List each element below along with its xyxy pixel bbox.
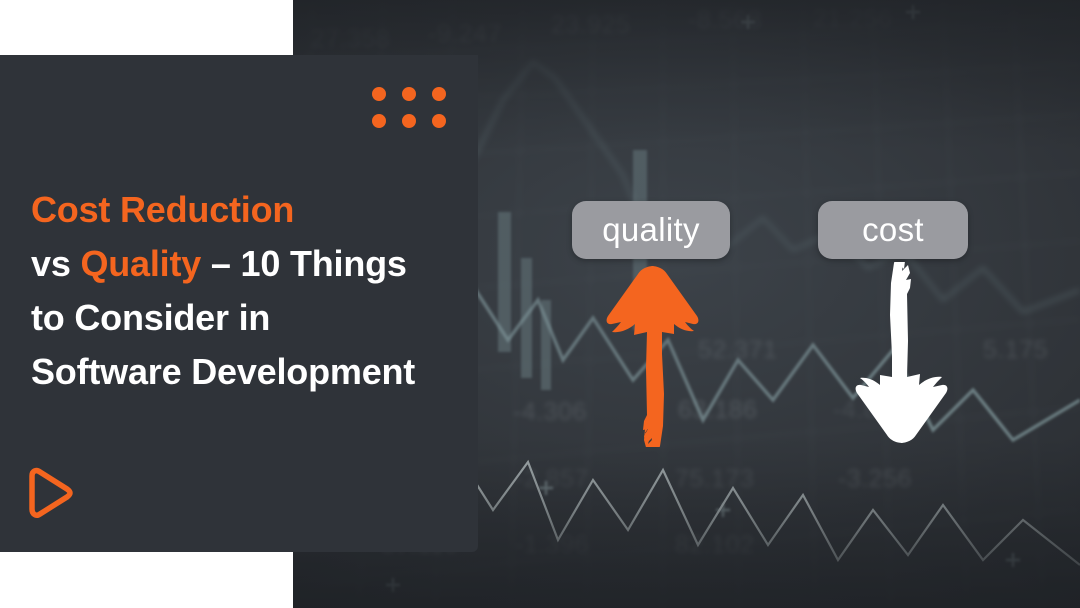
title-panel: Cost Reduction vs Quality – 10 Things to… bbox=[0, 55, 478, 552]
brush-arrow-down-icon bbox=[848, 262, 960, 447]
six-dot-grid-icon bbox=[372, 87, 446, 128]
label-chip-cost[interactable]: cost bbox=[818, 201, 968, 259]
title-line-3: to Consider in bbox=[31, 291, 461, 345]
dot-3 bbox=[432, 87, 446, 101]
title-accent-quality: Quality bbox=[80, 243, 201, 284]
label-chip-quality[interactable]: quality bbox=[572, 201, 730, 259]
dot-5 bbox=[402, 114, 416, 128]
dot-2 bbox=[402, 87, 416, 101]
dot-6 bbox=[432, 114, 446, 128]
title-line-2-post: – 10 Things bbox=[201, 243, 407, 284]
label-chip-cost-text: cost bbox=[862, 211, 924, 249]
title-line-4: Software Development bbox=[31, 345, 461, 399]
title-line-2-pre: vs bbox=[31, 243, 80, 284]
page-title: Cost Reduction vs Quality – 10 Things to… bbox=[31, 183, 461, 399]
dot-4 bbox=[372, 114, 386, 128]
brush-arrow-up-icon bbox=[596, 262, 708, 447]
title-line-2: vs Quality – 10 Things bbox=[31, 237, 461, 291]
poster-canvas: 27.358-9.24723.925-8.56821.25616.412-4.3… bbox=[0, 0, 1080, 608]
play-triangle-logo-icon[interactable] bbox=[22, 464, 78, 520]
label-chip-quality-text: quality bbox=[602, 211, 700, 249]
title-accent-cost-reduction: Cost Reduction bbox=[31, 189, 294, 230]
dot-1 bbox=[372, 87, 386, 101]
title-line-1: Cost Reduction bbox=[31, 183, 461, 237]
